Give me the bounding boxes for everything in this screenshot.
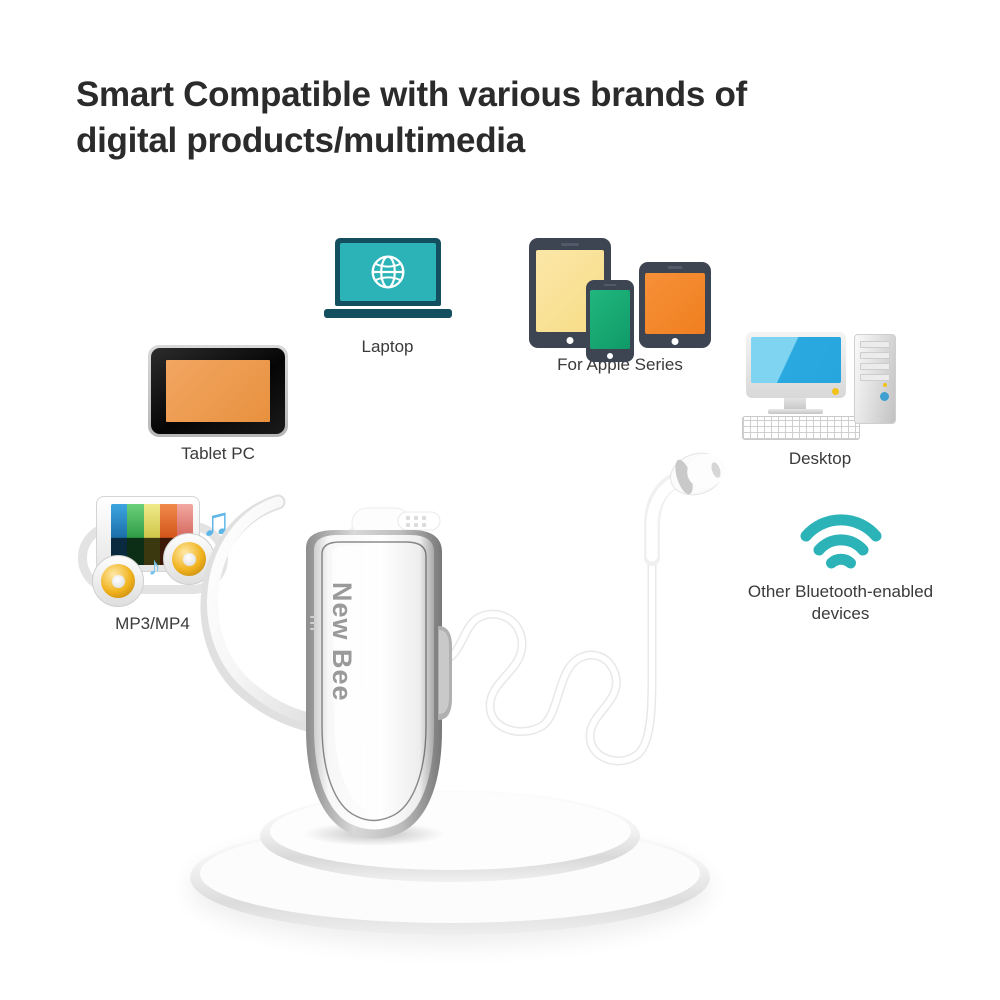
headline-line-2: digital products/multimedia (76, 118, 926, 164)
speaker-slot (668, 266, 683, 269)
home-button (567, 337, 574, 344)
home-button (672, 338, 679, 345)
phone-green (586, 280, 634, 362)
charging-connector (398, 512, 440, 530)
screen (645, 273, 705, 334)
drive-bay (860, 352, 890, 359)
globe-icon (370, 254, 406, 290)
headset-illustration (160, 430, 800, 975)
home-button (607, 353, 613, 359)
monitor (746, 332, 846, 398)
laptop-lid (335, 238, 441, 306)
feature-label-laptop: Laptop (295, 336, 480, 358)
speaker-left (92, 555, 144, 607)
drive-bay (860, 341, 890, 348)
feature-apple-series: For Apple Series (500, 238, 740, 376)
computer-tower (854, 334, 896, 424)
drive-bay (860, 374, 890, 381)
wifi-signal-icon (800, 512, 882, 575)
page-title: Smart Compatible with various brands of … (76, 72, 926, 164)
monitor-screen (751, 337, 841, 383)
monitor-foot (768, 409, 823, 414)
infographic-canvas: Smart Compatible with various brands of … (0, 0, 1000, 1000)
screen (590, 290, 630, 349)
laptop-base (324, 309, 452, 318)
earbud (652, 447, 729, 558)
speaker-cone (101, 564, 135, 598)
laptop-screen (340, 243, 436, 301)
feature-laptop: Laptop (295, 238, 480, 358)
tower-power-button (880, 392, 889, 401)
tablet-glass (151, 348, 285, 434)
tablet-orange (639, 262, 711, 348)
speaker-slot (604, 284, 617, 286)
apple-devices-icon (529, 238, 711, 348)
tower-led (883, 383, 887, 387)
product-scene: New Bee (160, 430, 800, 975)
monitor-power-dot (832, 388, 839, 395)
wifi-arcs (800, 512, 882, 570)
laptop-icon (324, 238, 452, 330)
drive-bay (860, 363, 890, 370)
tablet-pc-icon (148, 345, 288, 437)
desktop-computer-icon (740, 330, 900, 442)
headline-line-1: Smart Compatible with various brands of (76, 75, 747, 114)
brand-logo: New Bee (326, 582, 357, 702)
tablet-screen (166, 360, 270, 422)
speaker-slot (561, 243, 579, 246)
